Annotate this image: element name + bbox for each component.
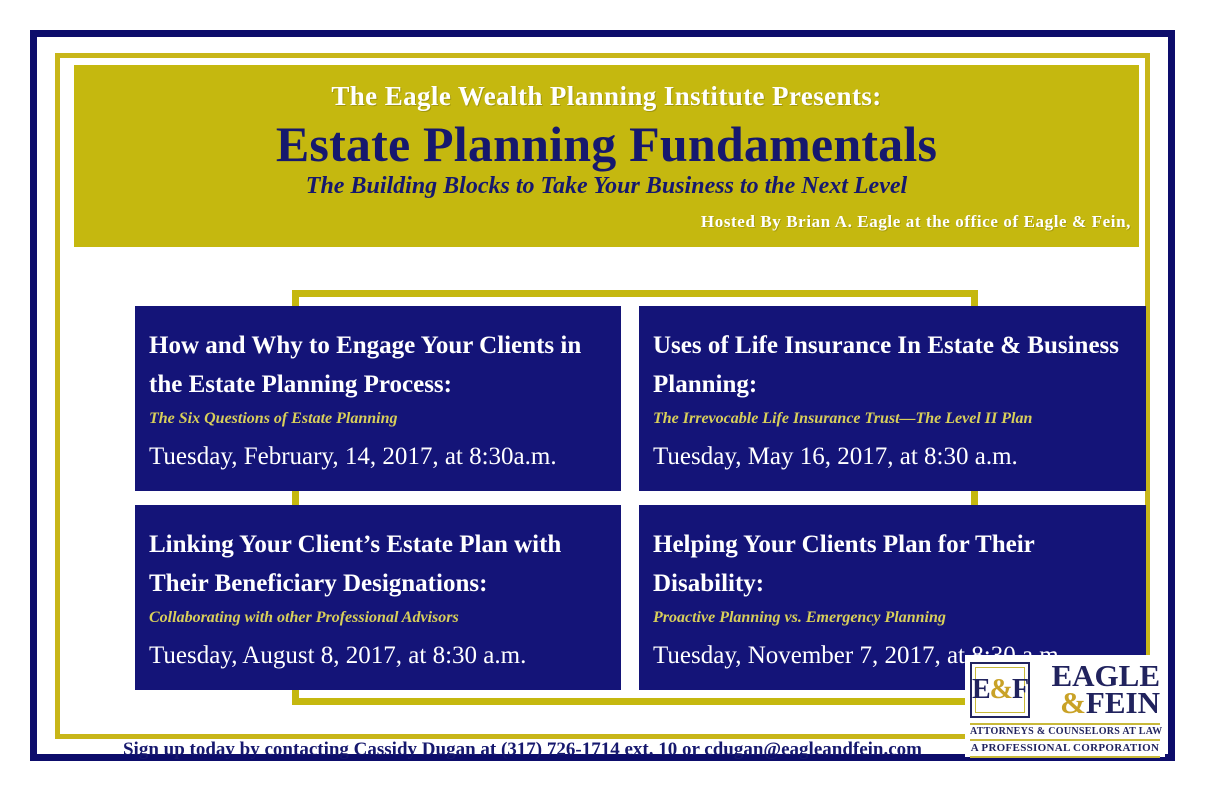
monogram-text: E&F [972,674,1028,706]
logo-tagline-2: A PROFESSIONAL CORPORATION [970,742,1160,754]
logo-word-fein: &FEIN [1037,690,1160,717]
hosted-by-line: Hosted By Brian A. Eagle at the office o… [74,212,1139,232]
logo-top-row: E&F EAGLE &FEIN [970,659,1160,721]
monogram-letter-f: F [1012,674,1028,705]
logo-divider-mid [970,739,1160,741]
session-subtitle: The Six Questions of Estate Planning [149,409,607,428]
session-title: How and Why to Engage Your Clients in th… [149,326,607,404]
session-card-1[interactable]: How and Why to Engage Your Clients in th… [135,306,621,491]
header-band: The Eagle Wealth Planning Institute Pres… [74,65,1139,247]
monogram-box-icon: E&F [970,662,1030,718]
logo-divider-bottom [970,756,1160,758]
page-subtitle: The Building Blocks to Take Your Busines… [74,173,1139,200]
session-date: Tuesday, February, 14, 2017, at 8:30a.m. [149,442,607,472]
session-subtitle: Proactive Planning vs. Emergency Plannin… [653,608,1132,627]
page-title: Estate Planning Fundamentals [74,118,1139,171]
session-grid: How and Why to Engage Your Clients in th… [135,306,1146,690]
session-title: Helping Your Clients Plan for Their Disa… [653,525,1132,603]
session-title: Linking Your Client’s Estate Plan with T… [149,525,607,603]
session-subtitle: Collaborating with other Professional Ad… [149,608,607,627]
session-card-2[interactable]: Uses of Life Insurance In Estate & Busin… [639,306,1146,491]
session-title: Uses of Life Insurance In Estate & Busin… [653,326,1132,404]
eagle-and-fein-logo: E&F EAGLE &FEIN ATTORNEYS & COUNSELORS A… [965,655,1165,757]
flyer-poster: The Eagle Wealth Planning Institute Pres… [30,30,1175,761]
monogram-letter-e: E [972,674,990,705]
logo-tagline-1: ATTORNEYS & COUNSELORS AT LAW [970,726,1160,737]
logo-fein-text: FEIN [1086,685,1160,720]
presents-line: The Eagle Wealth Planning Institute Pres… [74,81,1139,112]
logo-ampersand: & [1060,685,1086,720]
session-date: Tuesday, August 8, 2017, at 8:30 a.m. [149,641,607,671]
session-card-3[interactable]: Linking Your Client’s Estate Plan with T… [135,505,621,690]
session-date: Tuesday, May 16, 2017, at 8:30 a.m. [653,442,1132,472]
logo-wordmark: EAGLE &FEIN [1037,663,1160,716]
session-subtitle: The Irrevocable Life Insurance Trust—The… [653,409,1132,428]
logo-divider-top [970,723,1160,725]
monogram-ampersand: & [990,674,1012,705]
